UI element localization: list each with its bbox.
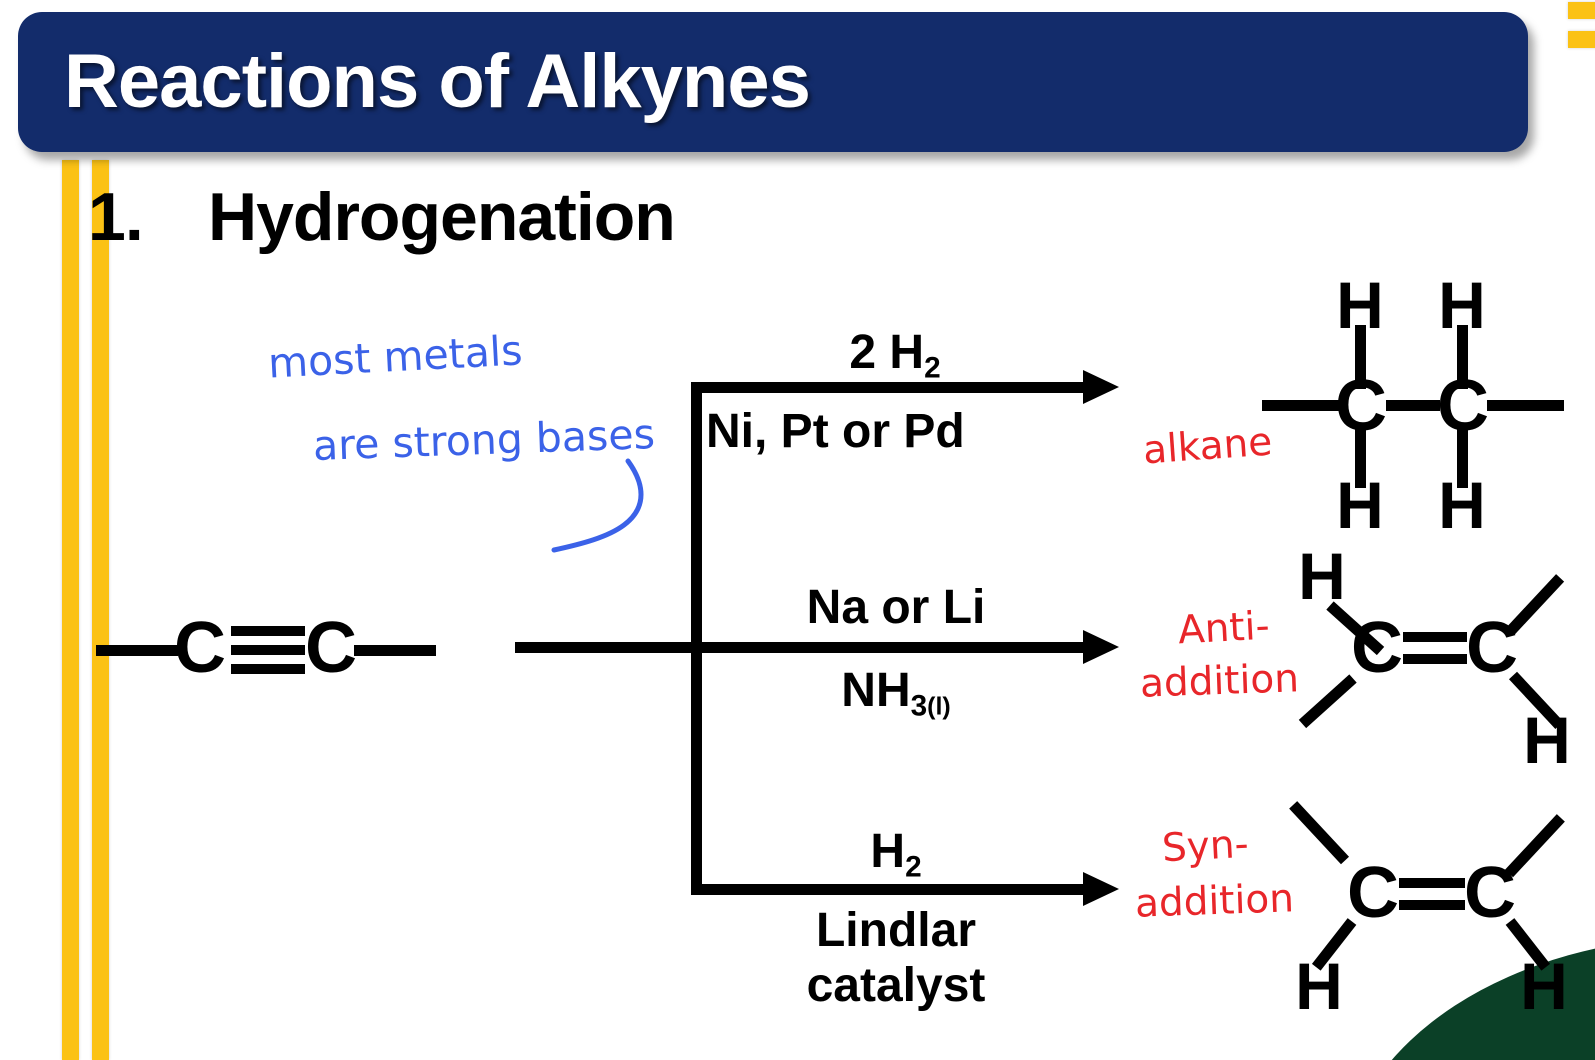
trans-alkene-double-bond-upper bbox=[1403, 632, 1467, 642]
cis-alkene-bond-c1-r bbox=[1289, 801, 1349, 864]
alkyne-carbon-right: C bbox=[303, 612, 359, 684]
gold-bar-top-upper bbox=[1568, 2, 1595, 19]
trans-alkene-bond-c1-r bbox=[1299, 674, 1357, 728]
reaction-bracket-vertical bbox=[691, 382, 702, 894]
alkane-h-bottom-right: H bbox=[1437, 472, 1487, 538]
arrow-1-head bbox=[1083, 370, 1119, 404]
alkyne-carbon-left: C bbox=[172, 612, 228, 684]
handwritten-note-anti-line2: addition bbox=[1139, 657, 1299, 706]
gold-bar-left-inner bbox=[92, 160, 109, 1060]
handwritten-underline-blue bbox=[552, 455, 662, 560]
handwritten-note-syn-line1: Syn- bbox=[1161, 823, 1250, 871]
trans-alkene-h-lower-right: H bbox=[1522, 707, 1572, 773]
cis-alkene-h-lower-right: H bbox=[1519, 953, 1569, 1019]
slide-canvas: Reactions of Alkynes 1. Hydrogenation C … bbox=[0, 0, 1595, 1060]
title-banner: Reactions of Alkynes bbox=[18, 12, 1528, 152]
arrow-2-head bbox=[1083, 630, 1119, 664]
gold-bar-top-lower bbox=[1568, 31, 1595, 48]
slide-title: Reactions of Alkynes bbox=[64, 38, 810, 125]
arrow-3-head bbox=[1083, 872, 1119, 906]
reaction-2-reagent-top: Na or Li bbox=[706, 580, 1086, 635]
reaction-1-reagent-top: 2 H2 bbox=[760, 325, 1030, 386]
handwritten-note-alkane: alkane bbox=[1142, 421, 1274, 474]
section-heading-number: 1. bbox=[88, 178, 208, 256]
reaction-3-reagent-top: H2 bbox=[706, 824, 1086, 885]
gold-bar-left-outer bbox=[62, 160, 79, 1060]
cis-alkene-h-lower-left: H bbox=[1294, 953, 1344, 1019]
handwritten-note-anti-line1: Anti- bbox=[1177, 605, 1271, 653]
alkane-h-bottom-left: H bbox=[1335, 472, 1385, 538]
cis-alkene-carbon-left: C bbox=[1345, 857, 1401, 929]
reaction-2-reagent-bottom: NH3(l) bbox=[706, 663, 1086, 724]
handwritten-note-blue-line1: most metals bbox=[267, 328, 524, 387]
alkyne-triple-bond-lower bbox=[231, 664, 305, 674]
handwritten-note-syn-line2: addition bbox=[1134, 877, 1294, 926]
trans-alkene-double-bond-lower bbox=[1403, 654, 1467, 664]
trans-alkene-carbon-left: C bbox=[1349, 612, 1405, 684]
reaction-1-reagent-bottom: Ni, Pt or Pd bbox=[706, 404, 1086, 459]
alkane-right-r-bond bbox=[1487, 400, 1564, 411]
reaction-3-reagent-bottom-line2: catalyst bbox=[706, 958, 1086, 1013]
section-heading-title: Hydrogenation bbox=[208, 178, 675, 256]
arrow-3-shaft bbox=[691, 884, 1091, 895]
alkyne-triple-bond-upper bbox=[231, 626, 305, 636]
alkyne-right-bond bbox=[354, 645, 436, 656]
alkyne-triple-bond-middle bbox=[231, 645, 305, 655]
cis-alkene-double-bond-lower bbox=[1399, 900, 1465, 910]
cis-alkene-bond-c2-r bbox=[1505, 814, 1565, 877]
alkane-c1-c2-bond bbox=[1386, 400, 1440, 411]
arrow-2-shaft bbox=[515, 642, 1091, 653]
alkane-left-r-bond bbox=[1262, 400, 1339, 411]
cis-alkene-double-bond-upper bbox=[1399, 878, 1465, 888]
section-heading: 1. Hydrogenation bbox=[88, 178, 675, 256]
reaction-3-reagent-bottom-line1: Lindlar bbox=[706, 903, 1086, 958]
alkyne-left-bond bbox=[96, 645, 178, 656]
trans-alkene-bond-c2-r bbox=[1507, 574, 1564, 634]
trans-alkene-h-upper-left: H bbox=[1297, 543, 1347, 609]
